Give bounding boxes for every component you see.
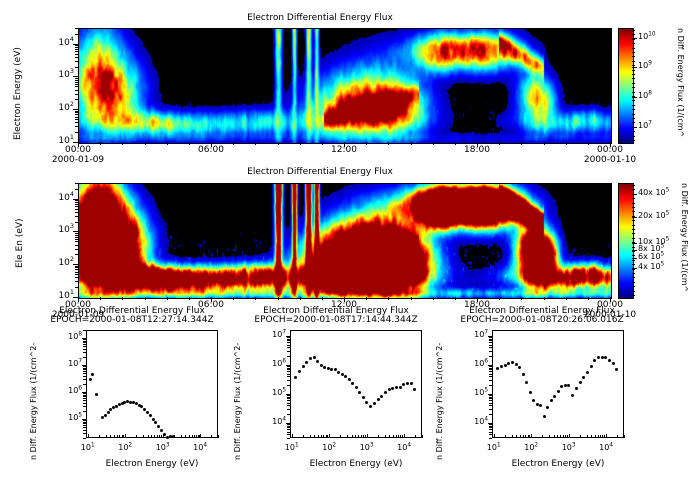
mid-ytick-4: 104 [44, 194, 74, 203]
top-ytick-1: 101 [44, 137, 74, 146]
spectra-2-ytick-4: 104 [462, 418, 488, 426]
spectra-2-point [601, 356, 604, 359]
spectra-2-ytick-5: 105 [462, 389, 488, 397]
spectra-1-point [369, 405, 372, 408]
spectra-1-point [380, 395, 383, 398]
spectra-2-point [593, 359, 596, 362]
spectra-2-point [504, 364, 507, 367]
spectra-2-point [586, 371, 589, 374]
top-xtick-0: 00:00 [56, 146, 100, 155]
mid-ytick-2: 102 [44, 259, 74, 268]
cbMidTicks-label-3: 8x 105 [638, 245, 664, 253]
spectra-1-point [330, 368, 333, 371]
panel-mid-colorbar [618, 183, 634, 299]
spectra-0-ytick-5: 105 [56, 414, 82, 422]
spectra-2-point [500, 365, 503, 368]
spectra-1-plot [290, 330, 422, 438]
spectra-0-subtitle: EPOCH=2000-01-08T12:27:14.344Z [22, 316, 242, 325]
spectra-2-point [553, 395, 556, 398]
top-xtick-1: 06:00 [189, 146, 233, 155]
spectra-2-point [511, 361, 514, 364]
spectra-1-point [358, 391, 361, 394]
spectra-2-ytick-6: 106 [462, 360, 488, 368]
cbTopTicks-label-2: 108 [638, 92, 652, 100]
spectra-1-point [391, 387, 394, 390]
top-xtick-3: 18:00 [455, 146, 499, 155]
spectra-1-point [344, 375, 347, 378]
spectra-2-point [539, 404, 542, 407]
mid-ytick-1: 101 [44, 292, 74, 301]
spectra-1-point [384, 391, 387, 394]
spectra-2-subtitle: EPOCH=2000-01-08T20:26:06.016Z [428, 316, 656, 325]
spectra-2-point [536, 403, 539, 406]
cbTopTicks-label-0: 1010 [638, 33, 656, 41]
spectra-2-point [557, 390, 560, 393]
spectra-2-point [546, 406, 549, 409]
spectra-1-point [395, 386, 398, 389]
spectra-1-xlabel: Electron Energy (eV) [270, 460, 442, 469]
panel-mid-ylabel: Ele En (eV) [16, 218, 25, 268]
top-xtick-4: 00:00 [588, 146, 632, 155]
spectra-1-ytick-4: 104 [260, 418, 286, 426]
spectra-1-point [377, 398, 380, 401]
figure-canvas: Electron Differential Energy Flux Electr… [0, 0, 697, 492]
spectra-2-xtick-2: 102 [517, 444, 545, 452]
spectra-0-plot [86, 330, 218, 438]
spectra-2-xtick-4: 104 [592, 444, 620, 452]
panel-mid-colorbar-label: n Diff. Energy Flux (1/(cm^ [680, 183, 688, 292]
cbMidTicks-label-2: 10x 105 [638, 238, 669, 246]
spectra-0-xtick-2: 102 [111, 444, 139, 452]
cbMidTicks-label-5: 4x 105 [638, 263, 664, 271]
spectra-1-point [316, 360, 319, 363]
spectra-1-xtick-1: 101 [278, 444, 306, 452]
spectra-0-point [91, 373, 94, 376]
spectra-0-point [154, 421, 157, 424]
spectra-0-point [157, 425, 160, 428]
spectra-1-ytick-7: 107 [260, 331, 286, 339]
spectra-1-point [406, 382, 409, 385]
panel-mid-spectrogram [78, 183, 612, 299]
spectra-2-ytick-7: 107 [462, 331, 488, 339]
spectra-1-point [323, 366, 326, 369]
spectra-1-ytick-5: 105 [260, 389, 286, 397]
spectra-1-point [410, 382, 413, 385]
spectra-0-ytick-7: 107 [56, 360, 82, 368]
top-xtick-2: 12:00 [322, 146, 366, 155]
spectra-2-point [575, 387, 578, 390]
spectra-1-point [305, 361, 308, 364]
spectra-0-xlabel: Electron Energy (eV) [66, 460, 238, 469]
spectra-1-point [351, 382, 354, 385]
spectra-1-point [298, 370, 301, 373]
spectra-0-point [152, 418, 155, 421]
spectra-2-point [496, 367, 499, 370]
spectra-1-point [373, 402, 376, 405]
spectra-1-point [294, 376, 297, 379]
spectra-0-point [95, 393, 98, 396]
panel-top-colorbar-label: n Diff. Energy Flux (1/(cm^ [676, 28, 684, 137]
panel-top-ylabel: Electron Energy (eV) [14, 47, 23, 140]
spectra-1-point [399, 386, 402, 389]
spectra-1-xtick-4: 104 [390, 444, 418, 452]
spectra-2-point [525, 381, 528, 384]
spectra-0-xtick-3: 103 [149, 444, 177, 452]
spectra-1-point [337, 371, 340, 374]
spectra-2-point [608, 359, 611, 362]
spectra-1-point [362, 396, 365, 399]
spectra-1-point [334, 368, 337, 371]
spectra-2-point [571, 394, 574, 397]
panel-mid-title: Electron Differential Energy Flux [0, 168, 640, 177]
spectra-2-point [529, 391, 532, 394]
cbMidTicks-label-4: 6x 105 [638, 253, 664, 261]
spectra-2-point [522, 373, 525, 376]
spectra-1-point [365, 401, 368, 404]
spectra-0-xtick-1: 101 [74, 444, 102, 452]
cbTopTicks-label-3: 107 [638, 122, 652, 130]
spectra-2-xtick-3: 103 [555, 444, 583, 452]
spectra-2-point [532, 399, 535, 402]
spectra-2-xlabel: Electron Energy (eV) [472, 460, 644, 469]
spectra-0-point [104, 414, 107, 417]
cbMidTicks-label-1: 20x 105 [638, 212, 669, 220]
panel-top-title: Electron Differential Energy Flux [0, 14, 640, 23]
spectra-1-ylabel: n Diff. Energy Flux (1/(cm^2- [234, 343, 242, 460]
panel-top-colorbar [618, 28, 634, 144]
spectra-2-point [515, 363, 518, 366]
top-ytick-3: 103 [44, 71, 74, 80]
mid-ytick-3: 103 [44, 226, 74, 235]
cbTopTicks-label-1: 109 [638, 62, 652, 70]
spectra-1-point [302, 365, 305, 368]
spectra-1-point [413, 388, 416, 391]
spectra-2-ylabel: n Diff. Energy Flux (1/(cm^2- [436, 343, 444, 460]
top-xtick-date-4: 2000-01-10 [580, 156, 640, 165]
spectra-2-point [567, 384, 570, 387]
spectra-1-point [309, 357, 312, 360]
spectra-2-point [560, 385, 563, 388]
spectra-0-point [160, 429, 163, 432]
spectra-1-point [402, 383, 405, 386]
spectra-0-point [146, 411, 149, 414]
spectra-1-subtitle: EPOCH=2000-01-08T17:14:44.344Z [226, 316, 446, 325]
spectra-2-point [518, 366, 521, 369]
spectra-2-point [604, 356, 607, 359]
panel-top-spectrogram [78, 28, 612, 144]
spectra-1-point [313, 356, 316, 359]
spectra-1-point [327, 367, 330, 370]
spectra-0-ylabel: n Diff. Energy Flux (1/(cm^2- [30, 343, 38, 460]
spectra-1-point [348, 378, 351, 381]
cbMidTicks-label-0: 40x 105 [638, 189, 669, 197]
top-xtick-date-0: 2000-01-09 [48, 156, 108, 165]
spectra-2-point [543, 415, 546, 418]
spectra-0-point [89, 378, 92, 381]
spectra-1-xtick-3: 103 [353, 444, 381, 452]
spectra-2-point [507, 362, 510, 365]
spectra-2-xtick-1: 101 [480, 444, 508, 452]
top-ytick-4: 104 [44, 39, 74, 48]
spectra-0-ytick-8: 108 [56, 333, 82, 341]
spectra-1-ytick-6: 106 [260, 360, 286, 368]
spectra-2-plot [492, 330, 624, 438]
spectra-2-point [582, 376, 585, 379]
spectra-2-point [615, 368, 618, 371]
spectra-0-point [149, 414, 152, 417]
spectra-2-point [612, 362, 615, 365]
spectra-2-point [590, 365, 593, 368]
spectra-0-ytick-6: 106 [56, 387, 82, 395]
spectra-0-point [107, 411, 110, 414]
spectra-1-point [355, 386, 358, 389]
spectra-0-xtick-4: 104 [186, 444, 214, 452]
spectra-2-point [550, 399, 553, 402]
spectra-1-xtick-2: 102 [315, 444, 343, 452]
spectra-2-point [579, 381, 582, 384]
spectra-2-point [597, 356, 600, 359]
top-ytick-2: 102 [44, 104, 74, 113]
